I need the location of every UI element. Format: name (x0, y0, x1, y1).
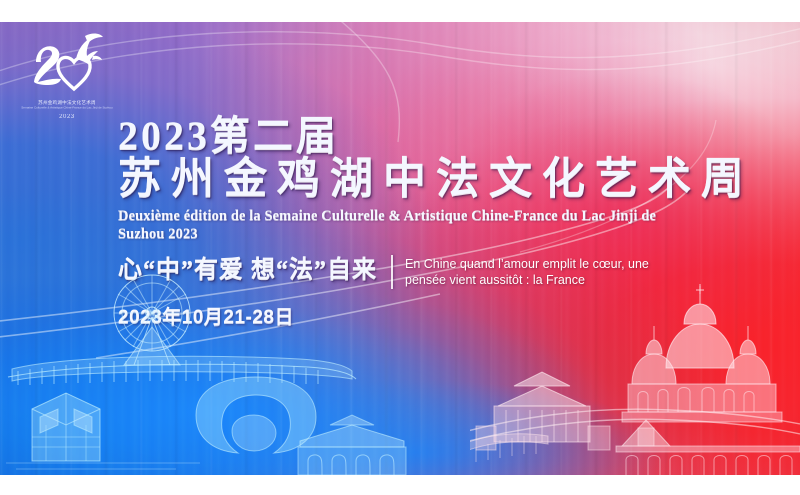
rooster-heart-20-logo-icon (30, 32, 104, 98)
title-line-main: 苏州金鸡湖中法文化艺术周 (118, 156, 718, 204)
poster-frame: 苏州金鸡湖中法文化艺术周 Semaine Culturelle & Artist… (0, 0, 800, 495)
event-date: 2023年10月21-28日 (118, 302, 718, 329)
slogan-row: 心“中”有爱 想“法”自来 En Chine quand l’amour emp… (118, 255, 718, 289)
logo-year: 2023 (24, 114, 110, 120)
festival-logo: 苏州金鸡湖中法文化艺术周 Semaine Culturelle & Artist… (24, 30, 110, 130)
frame-band-top (0, 0, 800, 22)
festival-poster: 苏州金鸡湖中法文化艺术周 Semaine Culturelle & Artist… (0, 22, 800, 475)
headline-block: 2023第二届 苏州金鸡湖中法文化艺术周 Deuxième édition de… (118, 114, 718, 329)
french-subtitle: Deuxième édition de la Semaine Culturell… (118, 208, 698, 243)
frame-band-bottom (0, 475, 800, 495)
slogan-french: En Chine quand l’amour emplit le cœur, u… (405, 255, 673, 288)
slogan-divider (391, 255, 393, 289)
title-line-edition: 2023第二届 (118, 114, 718, 158)
logo-french-microtext: Semaine Culturelle & Artistique Chine-Fr… (15, 106, 118, 110)
slogan-chinese: 心“中”有爱 想“法”自来 (118, 255, 377, 285)
